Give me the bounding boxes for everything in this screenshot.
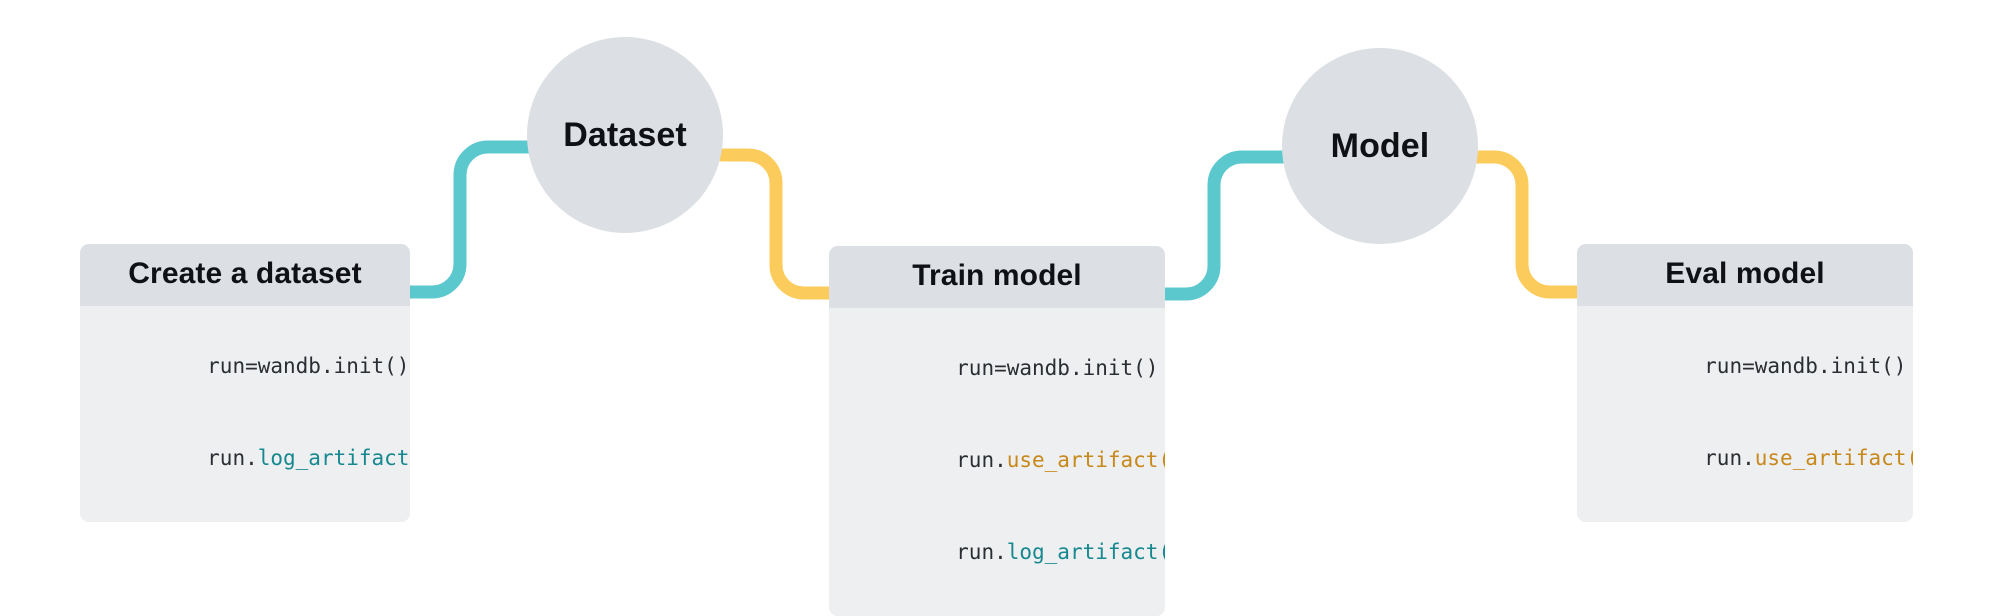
- code-token-base: run.: [1704, 446, 1755, 470]
- code-token-log-artifact: log_artifact(): [1007, 540, 1165, 564]
- code-token-base: run.: [207, 446, 258, 470]
- step-card-create-dataset-code: run=wandb.init() run.log_artifact(): [80, 306, 410, 522]
- code-token-use-artifact: use_artifact(): [1755, 446, 1913, 470]
- edge-model-to-eval-model: [1470, 157, 1578, 292]
- code-token-log-artifact: log_artifact(): [258, 446, 410, 470]
- artifact-node-model-label: Model: [1331, 127, 1430, 166]
- code-token-base: run=wandb.init(): [207, 354, 409, 378]
- artifact-node-dataset-label: Dataset: [563, 116, 687, 155]
- step-card-eval-model-title: Eval model: [1577, 244, 1913, 306]
- edge-train-model-to-model: [1163, 157, 1283, 294]
- code-line: run=wandb.init(): [106, 320, 384, 412]
- step-card-eval-model-code: run=wandb.init() run.use_artifact(): [1577, 306, 1913, 522]
- code-line: run.log_artifact(): [106, 412, 384, 504]
- edge-create-dataset-to-dataset: [408, 147, 528, 292]
- edge-dataset-to-train-model: [722, 155, 830, 293]
- code-token-base: run.: [956, 448, 1007, 472]
- step-card-eval-model[interactable]: Eval model run=wandb.init() run.use_arti…: [1577, 244, 1913, 522]
- artifact-node-dataset[interactable]: Dataset: [527, 37, 723, 233]
- code-line: run.log_artifact(): [855, 506, 1139, 598]
- code-line: run=wandb.init(): [855, 322, 1139, 414]
- artifact-node-model[interactable]: Model: [1282, 48, 1478, 244]
- code-token-base: run.: [956, 540, 1007, 564]
- step-card-train-model-title: Train model: [829, 246, 1165, 308]
- step-card-create-dataset[interactable]: Create a dataset run=wandb.init() run.lo…: [80, 244, 410, 522]
- artifacts-pipeline-diagram: Dataset Model Create a dataset run=wandb…: [0, 0, 1991, 503]
- code-line: run.use_artifact(): [1603, 412, 1887, 504]
- step-card-train-model[interactable]: Train model run=wandb.init() run.use_art…: [829, 246, 1165, 616]
- step-card-create-dataset-title: Create a dataset: [80, 244, 410, 306]
- code-line: run.use_artifact(): [855, 414, 1139, 506]
- step-card-train-model-code: run=wandb.init() run.use_artifact() run.…: [829, 308, 1165, 616]
- code-token-base: run=wandb.init(): [956, 356, 1158, 380]
- code-token-base: run=wandb.init(): [1704, 354, 1906, 378]
- code-line: run=wandb.init(): [1603, 320, 1887, 412]
- code-token-use-artifact: use_artifact(): [1007, 448, 1165, 472]
